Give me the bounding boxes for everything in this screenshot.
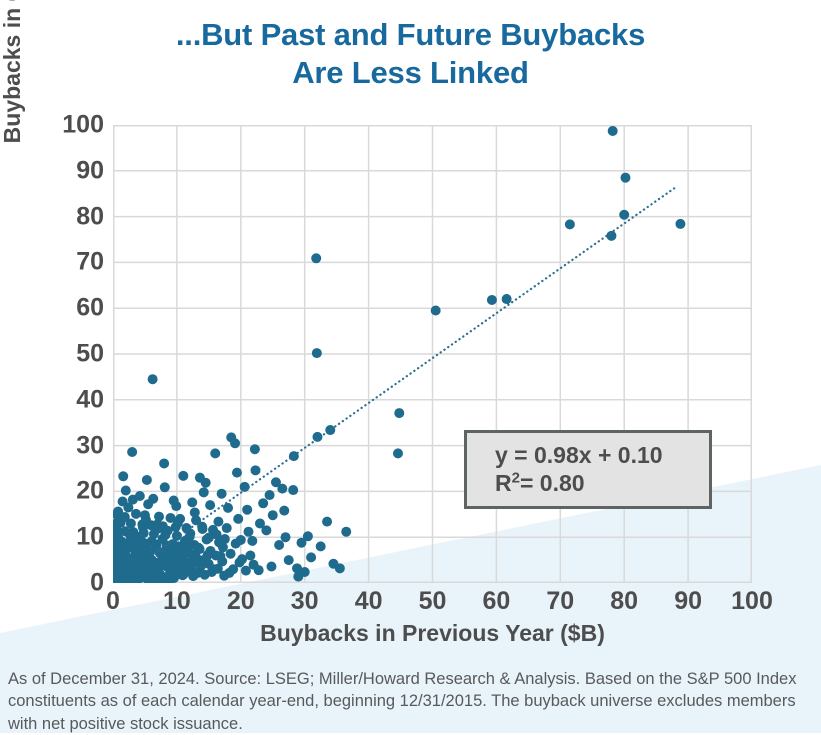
chart-title: ...But Past and Future Buybacks Are Less… (0, 16, 821, 92)
y-axis-tick-30: 30 (34, 433, 104, 458)
regression-equation: y = 0.98x + 0.10 (495, 441, 709, 469)
y-axis-tick-40: 40 (34, 387, 104, 412)
chart-title-line-1: ...But Past and Future Buybacks (0, 16, 821, 54)
y-axis-tick-50: 50 (34, 342, 104, 367)
scatter-plot-area (113, 125, 752, 583)
x-axis-tick-100: 100 (712, 589, 792, 614)
regression-r-squared: R2= 0.80 (495, 469, 709, 497)
r-squared-value: = 0.80 (520, 470, 585, 496)
y-axis-tick-90: 90 (34, 158, 104, 183)
r-squared-letter: R (495, 470, 512, 496)
x-axis-title: Buybacks in Previous Year ($B) (113, 620, 752, 647)
r-squared-exponent: 2 (512, 469, 520, 486)
y-axis-tick-20: 20 (34, 479, 104, 504)
y-axis-tick-60: 60 (34, 296, 104, 321)
source-footnote: As of December 31, 2024. Source: LSEG; M… (8, 668, 814, 735)
y-axis-tick-80: 80 (34, 204, 104, 229)
y-axis-tick-labels: 0102030405060708090100 (34, 125, 104, 583)
x-axis-tick-labels: 0102030405060708090100 (113, 589, 752, 623)
y-axis-tick-10: 10 (34, 525, 104, 550)
gridlines (113, 125, 752, 583)
y-axis-tick-100: 100 (34, 113, 104, 138)
regression-annotation-box: y = 0.98x + 0.10 R2= 0.80 (464, 430, 712, 509)
chart-title-line-2: Are Less Linked (0, 54, 821, 92)
y-axis-tick-70: 70 (34, 250, 104, 275)
